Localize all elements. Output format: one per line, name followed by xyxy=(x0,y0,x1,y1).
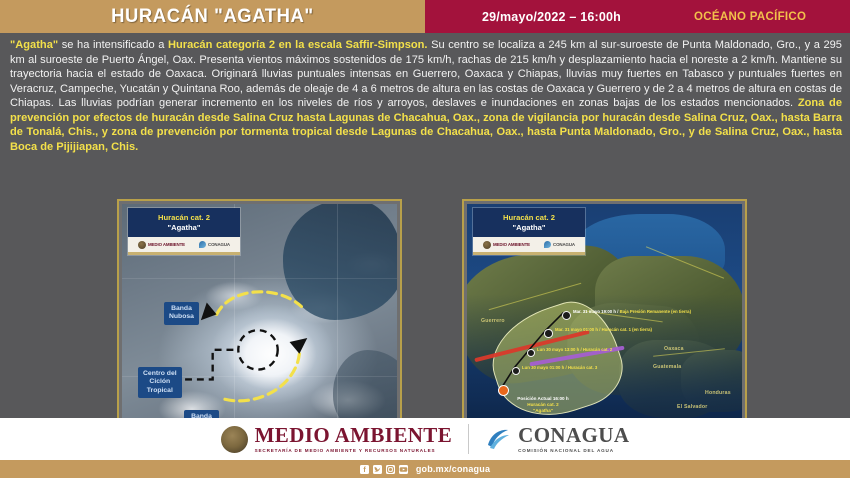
grid-line-vertical xyxy=(337,204,338,442)
conagua-mini-logo: CONAGUA xyxy=(199,241,230,248)
institutional-logo-bar: MEDIO AMBIENTE SECRETARÍA DE MEDIO AMBIE… xyxy=(0,418,850,460)
label-centro-ciclon-tropical: Centro del Ciclón Tropical xyxy=(138,367,182,398)
track-point-1 xyxy=(512,367,520,375)
track-label-4: Mar. 31 mayo 19:00 h / Baja Presión Rema… xyxy=(573,309,691,315)
satellite-image-panel: Banda Nubosa Centro del Ciclón Tropical … xyxy=(117,199,402,447)
header-datetime: 29/mayo/2022 – 16:00h xyxy=(482,10,621,24)
medio-ambiente-mini-logo: MEDIO AMBIENTE xyxy=(483,241,530,249)
mexican-eagle-seal-icon xyxy=(221,426,248,453)
footer-bar: f gob.mx/conagua xyxy=(0,460,850,478)
medio-ambiente-subtitle: SECRETARÍA DE MEDIO AMBIENTE Y RECURSOS … xyxy=(255,448,453,453)
medio-ambiente-mini-logo: MEDIO AMBIENTE xyxy=(138,241,185,249)
inset-title-block: Huracán cat. 2 "Agatha" xyxy=(473,208,585,237)
track-point-2 xyxy=(527,349,535,357)
eagle-seal-icon xyxy=(138,241,146,249)
twitter-icon[interactable] xyxy=(373,465,382,474)
track-map-canvas: Guerrero Oaxaca Guatemala Honduras El Sa… xyxy=(467,204,742,442)
track-inset-legend: Huracán cat. 2 "Agatha" MEDIO AMBIENTE C… xyxy=(472,207,586,256)
medio-ambiente-logo: MEDIO AMBIENTE SECRETARÍA DE MEDIO AMBIE… xyxy=(221,425,453,453)
bulletin-text: "Agatha" se ha intensificado a Huracán c… xyxy=(10,38,842,154)
header-meta-block: 29/mayo/2022 – 16:00h OCÉANO PACÍFICO xyxy=(425,0,850,33)
conagua-subtitle: COMISIÓN NACIONAL DEL AGUA xyxy=(518,448,629,453)
landmass-shape xyxy=(283,204,397,320)
grid-line-horizontal xyxy=(122,278,397,279)
bulletin-segment: "Agatha" xyxy=(10,39,58,51)
satellite-canvas: Banda Nubosa Centro del Ciclón Tropical … xyxy=(122,204,397,442)
label-banda-nubosa-superior: Banda Nubosa xyxy=(164,302,199,325)
header-title-block: HURACÁN "AGATHA" xyxy=(0,0,425,33)
current-position-marker xyxy=(498,385,509,396)
bulletin-segment: Huracán categoría 2 en la escala Saffir-… xyxy=(168,39,428,51)
facebook-icon[interactable]: f xyxy=(360,465,369,474)
satellite-inset-legend: Huracán cat. 2 "Agatha" MEDIO AMBIENTE C… xyxy=(127,207,241,256)
logo-divider xyxy=(468,424,469,454)
footer-url[interactable]: gob.mx/conagua xyxy=(416,464,490,474)
inset-logo-strip: MEDIO AMBIENTE CONAGUA xyxy=(473,237,585,252)
youtube-icon[interactable] xyxy=(399,465,408,474)
eagle-seal-icon xyxy=(483,241,491,249)
header-bar: HURACÁN "AGATHA" 29/mayo/2022 – 16:00h O… xyxy=(0,0,850,33)
conagua-mini-logo: CONAGUA xyxy=(544,241,575,248)
medio-ambiente-name: MEDIO AMBIENTE xyxy=(255,425,453,446)
current-position-label: Posición Actual 16:00 h Huracán cat. 2 "… xyxy=(487,396,599,414)
inset-gold-strip xyxy=(128,252,240,255)
track-point-3 xyxy=(544,329,553,338)
track-label-1: Lun 30 mayo 01:00 h / Huracán cat. 3 xyxy=(522,365,597,371)
svg-text:f: f xyxy=(363,467,366,474)
bulletin-body: "Agatha" se ha intensificado a Huracán c… xyxy=(0,33,850,418)
inset-gold-strip xyxy=(473,252,585,255)
inset-logo-strip: MEDIO AMBIENTE CONAGUA xyxy=(128,237,240,252)
instagram-icon[interactable] xyxy=(386,465,395,474)
forecast-track-map-panel: Guerrero Oaxaca Guatemala Honduras El Sa… xyxy=(462,199,747,447)
conagua-logo: CONAGUA COMISIÓN NACIONAL DEL AGUA xyxy=(485,425,629,453)
bulletin-segment: se ha intensificado a xyxy=(58,39,168,51)
water-wave-icon xyxy=(199,241,206,248)
header-basin: OCÉANO PACÍFICO xyxy=(694,11,806,23)
inset-title-block: Huracán cat. 2 "Agatha" xyxy=(128,208,240,237)
conagua-name: CONAGUA xyxy=(518,425,629,446)
water-wave-icon xyxy=(544,241,551,248)
infographic-root: HURACÁN "AGATHA" 29/mayo/2022 – 16:00h O… xyxy=(0,0,850,478)
page-title: HURACÁN "AGATHA" xyxy=(111,6,314,28)
track-label-3: Mar. 31 mayo 01:00 h / Huracán cat. 1 (e… xyxy=(555,327,652,333)
track-point-4 xyxy=(562,311,571,320)
track-label-2: Lun 30 mayo 13:00 h / Huracán cat. 2 xyxy=(537,347,612,353)
conagua-wave-icon xyxy=(485,427,511,451)
track-map-base: Guerrero Oaxaca Guatemala Honduras El Sa… xyxy=(467,204,742,442)
